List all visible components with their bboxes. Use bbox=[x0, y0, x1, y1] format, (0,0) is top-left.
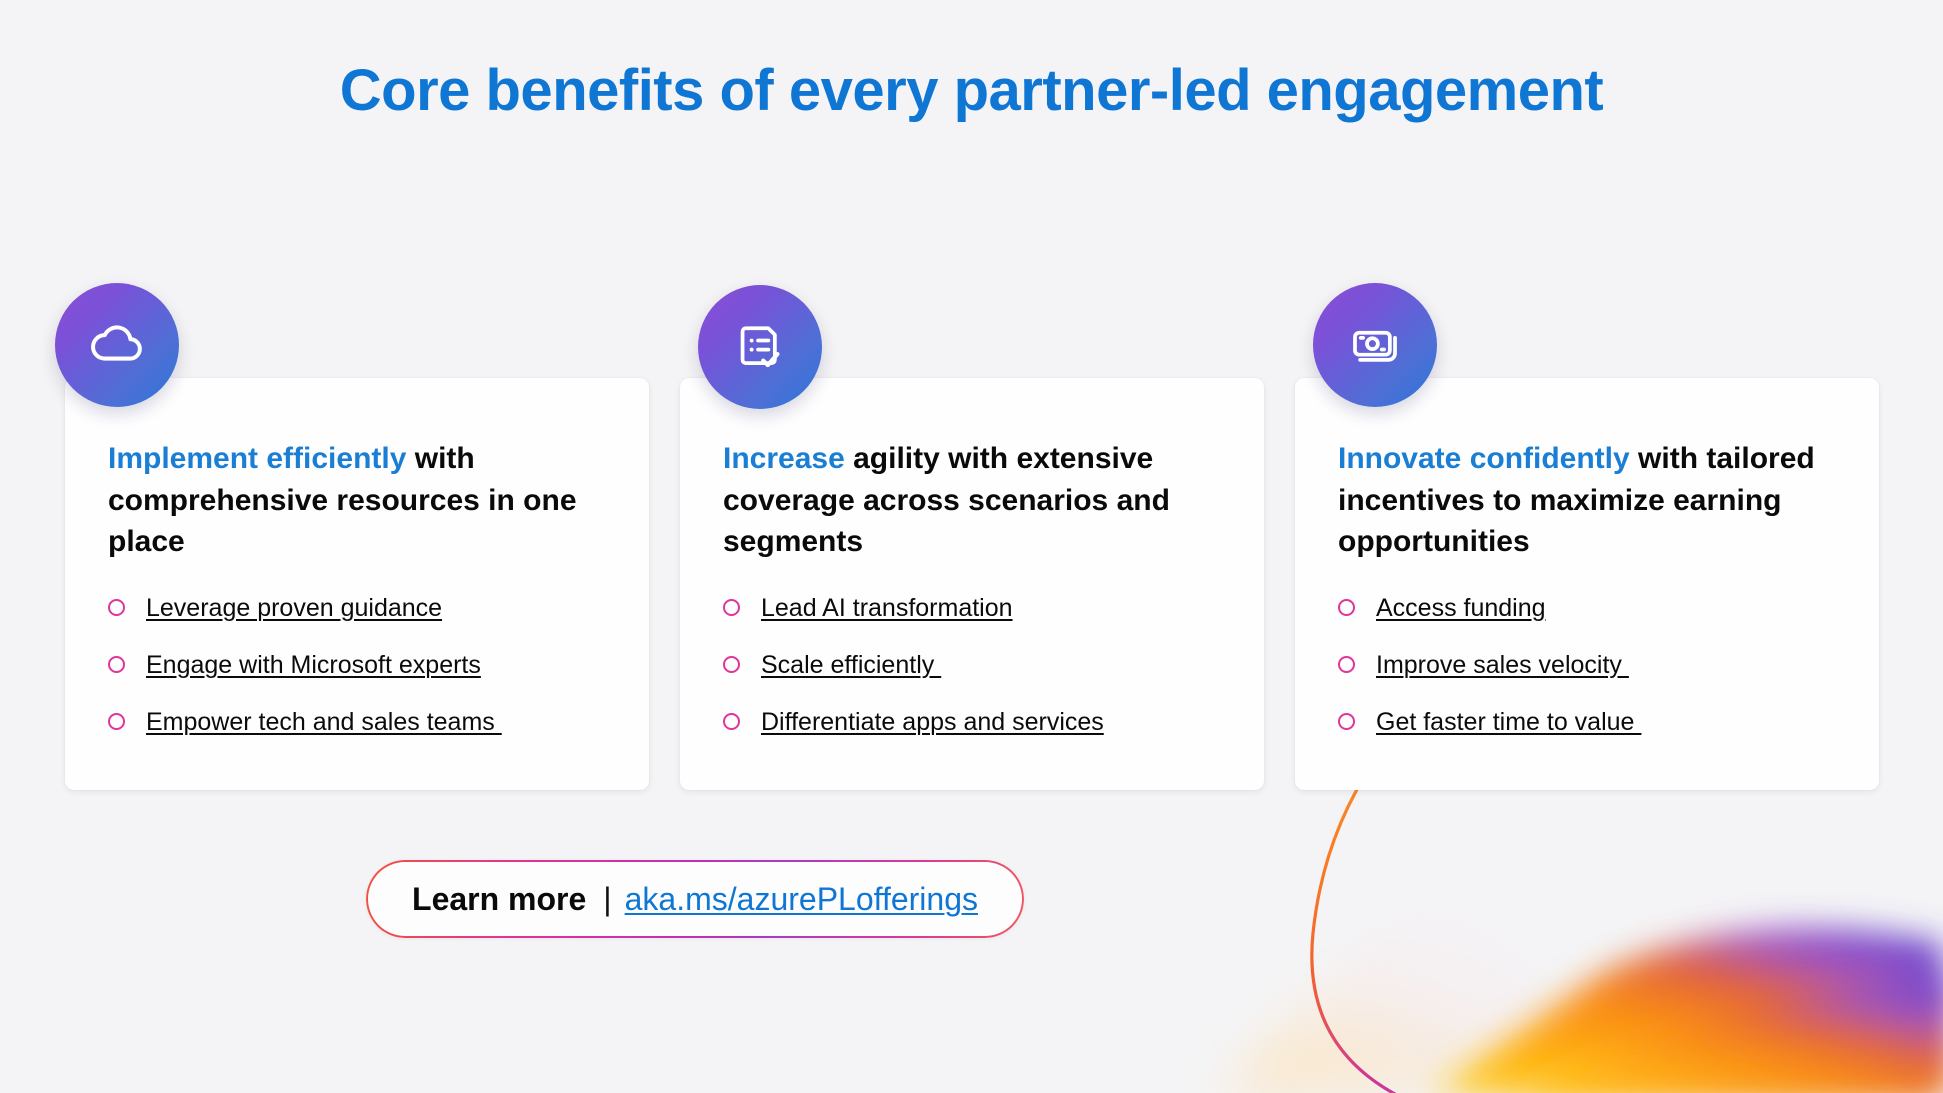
card-link-list: Leverage proven guidance Engage with Mic… bbox=[88, 593, 603, 737]
cta-url-link[interactable]: aka.ms/azurePLofferings bbox=[625, 881, 978, 918]
card-link[interactable]: Empower tech and sales teams bbox=[146, 707, 502, 737]
page-title: Core benefits of every partner-led engag… bbox=[0, 58, 1943, 125]
card-heading-highlight: Implement efficiently bbox=[108, 442, 406, 475]
learn-more-button[interactable]: Learn more | aka.ms/azurePLofferings bbox=[366, 860, 1024, 938]
circle-bullet-icon bbox=[1338, 599, 1355, 616]
card-heading-highlight: Increase bbox=[723, 442, 845, 475]
benefit-cards-row: Implement efficiently with comprehensive… bbox=[65, 378, 1879, 790]
list-item[interactable]: Scale efficiently bbox=[723, 650, 1218, 680]
cloud-icon-glyph bbox=[86, 314, 148, 376]
checklist-document-icon-glyph bbox=[729, 316, 791, 378]
list-item[interactable]: Get faster time to value bbox=[1338, 707, 1833, 737]
checklist-document-icon bbox=[698, 285, 822, 409]
list-item[interactable]: Engage with Microsoft experts bbox=[108, 650, 603, 680]
benefit-card: Increase agility with extensive coverage… bbox=[680, 378, 1264, 790]
money-banknote-icon-glyph bbox=[1344, 314, 1406, 376]
circle-bullet-icon bbox=[108, 713, 125, 730]
money-banknote-icon bbox=[1313, 283, 1437, 407]
cta-wrapper: Learn more | aka.ms/azurePLofferings bbox=[0, 860, 1390, 938]
list-item[interactable]: Lead AI transformation bbox=[723, 593, 1218, 623]
card-link[interactable]: Lead AI transformation bbox=[761, 593, 1013, 623]
list-item[interactable]: Empower tech and sales teams bbox=[108, 707, 603, 737]
card-link[interactable]: Access funding bbox=[1376, 593, 1546, 623]
card-link[interactable]: Improve sales velocity bbox=[1376, 650, 1629, 680]
circle-bullet-icon bbox=[723, 656, 740, 673]
circle-bullet-icon bbox=[723, 599, 740, 616]
card-link[interactable]: Differentiate apps and services bbox=[761, 707, 1104, 737]
list-item[interactable]: Differentiate apps and services bbox=[723, 707, 1218, 737]
card-heading: Innovate confidently with tailored incen… bbox=[1318, 438, 1833, 563]
card-link-list: Access funding Improve sales velocity Ge… bbox=[1318, 593, 1833, 737]
cta-separator: | bbox=[603, 881, 611, 918]
card-link[interactable]: Leverage proven guidance bbox=[146, 593, 442, 623]
card-link[interactable]: Scale efficiently bbox=[761, 650, 941, 680]
card-heading-highlight: Innovate confidently bbox=[1338, 442, 1630, 475]
circle-bullet-icon bbox=[108, 656, 125, 673]
circle-bullet-icon bbox=[1338, 713, 1355, 730]
card-link[interactable]: Engage with Microsoft experts bbox=[146, 650, 481, 680]
circle-bullet-icon bbox=[108, 599, 125, 616]
circle-bullet-icon bbox=[1338, 656, 1355, 673]
benefit-card: Implement efficiently with comprehensive… bbox=[65, 378, 649, 790]
list-item[interactable]: Leverage proven guidance bbox=[108, 593, 603, 623]
circle-bullet-icon bbox=[723, 713, 740, 730]
card-heading: Increase agility with extensive coverage… bbox=[703, 438, 1218, 563]
list-item[interactable]: Improve sales velocity bbox=[1338, 650, 1833, 680]
card-link-list: Lead AI transformation Scale efficiently… bbox=[703, 593, 1218, 737]
card-link[interactable]: Get faster time to value bbox=[1376, 707, 1641, 737]
card-heading: Implement efficiently with comprehensive… bbox=[88, 438, 603, 563]
cloud-icon bbox=[55, 283, 179, 407]
benefit-card: Innovate confidently with tailored incen… bbox=[1295, 378, 1879, 790]
list-item[interactable]: Access funding bbox=[1338, 593, 1833, 623]
learn-more-label: Learn more bbox=[412, 881, 586, 918]
